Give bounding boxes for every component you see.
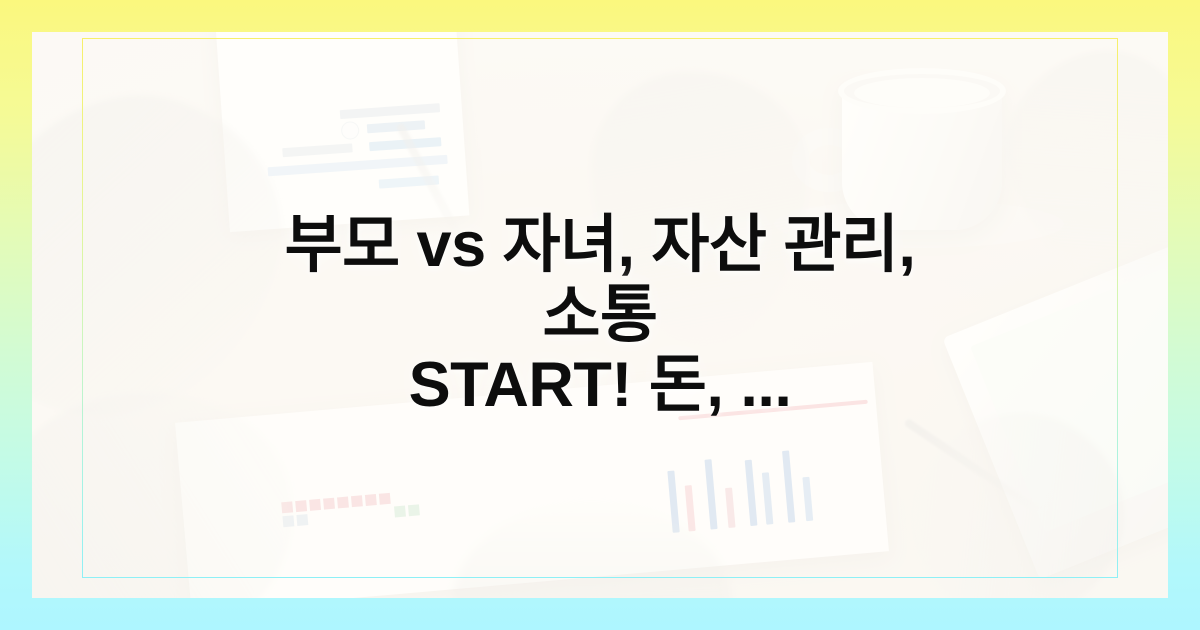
page-title: 부모 vs 자녀, 자산 관리, 소통 START! 돈, ... [280, 210, 920, 420]
title-container: 부모 vs 자녀, 자산 관리, 소통 START! 돈, ... [0, 0, 1200, 630]
og-card: 부모 vs 자녀, 자산 관리, 소통 START! 돈, ... [0, 0, 1200, 630]
